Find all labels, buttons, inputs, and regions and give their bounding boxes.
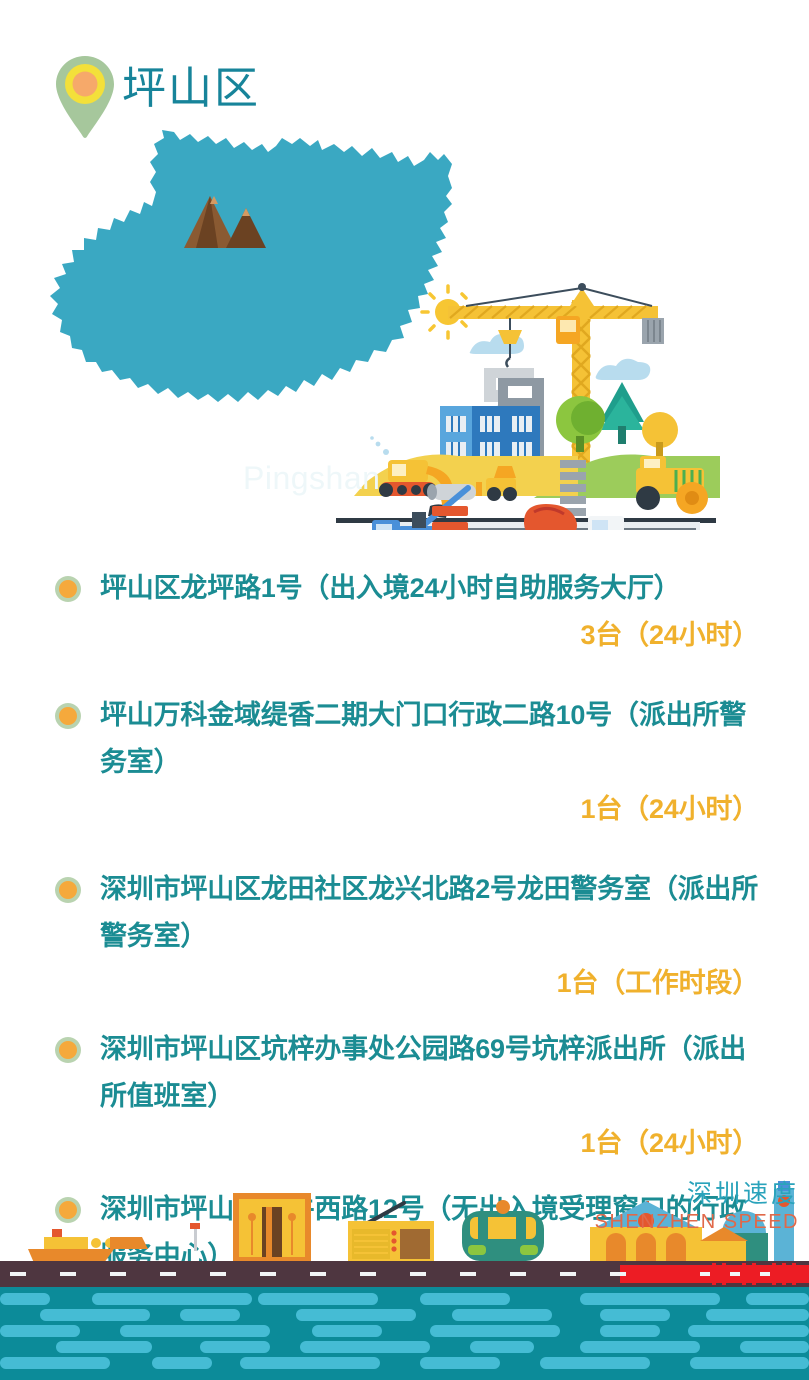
location-address: 深圳市坪山区坑梓办事处公园路69号坑梓派出所（派出所值班室） [100, 1026, 759, 1120]
exhaust-dots [370, 436, 389, 455]
location-count: 3台（24小时） [100, 612, 759, 658]
location-address: 坪山万科金域缇香二期大门口行政二路10号（派出所警务室） [100, 692, 759, 786]
list-item[interactable]: 深圳市坪山区龙田社区龙兴北路2号龙田警务室（派出所警务室） 1台（工作时段） [0, 866, 809, 1006]
map-and-construction-svg [0, 130, 809, 530]
location-count: 1台（24小时） [100, 786, 759, 832]
brand-name-en: SHENZHEN SPEED [595, 1210, 799, 1234]
radio-icon [348, 1203, 434, 1265]
orange-dot-icon [55, 1037, 81, 1063]
pingshan-map-shape [50, 130, 452, 402]
brand-name-cn: 深圳速度 [595, 1180, 799, 1208]
cement-mixer-icon [516, 504, 628, 530]
flag-icon [190, 1223, 200, 1229]
stamp-monument-icon [233, 1193, 311, 1263]
orange-dot-icon [55, 877, 81, 903]
pole-icon [194, 1227, 197, 1251]
map-pin-icon [56, 56, 114, 138]
location-count: 1台（工作时段） [100, 960, 759, 1006]
boat-icon [28, 1229, 148, 1263]
train-icon [462, 1200, 544, 1271]
map-label: Pingshan [243, 460, 380, 497]
brand-lockup: 深圳速度 SHENZHEN SPEED [595, 1180, 799, 1234]
page-title: 坪山区 [122, 64, 260, 114]
hero-illustration: Pingshan [0, 130, 809, 530]
wave-pattern [0, 1287, 809, 1380]
footer: 深圳速度 SHENZHEN SPEED [0, 1155, 809, 1380]
infographic-page: 坪山区 [0, 0, 809, 1380]
location-address: 深圳市坪山区龙田社区龙兴北路2号龙田警务室（派出所警务室） [100, 866, 759, 960]
orange-dot-icon [55, 703, 81, 729]
list-item[interactable]: 坪山万科金域缇香二期大门口行政二路10号（派出所警务室） 1台（24小时） [0, 692, 809, 832]
list-item[interactable]: 坪山区龙坪路1号（出入境24小时自助服务大厅） 3台（24小时） [0, 565, 809, 658]
orange-dot-icon [55, 576, 81, 602]
header: 坪山区 [0, 0, 809, 150]
location-address: 坪山区龙坪路1号（出入境24小时自助服务大厅） [100, 565, 759, 612]
list-item[interactable]: 深圳市坪山区坑梓办事处公园路69号坑梓派出所（派出所值班室） 1台（24小时） [0, 1026, 809, 1166]
road-strip [0, 1261, 809, 1287]
